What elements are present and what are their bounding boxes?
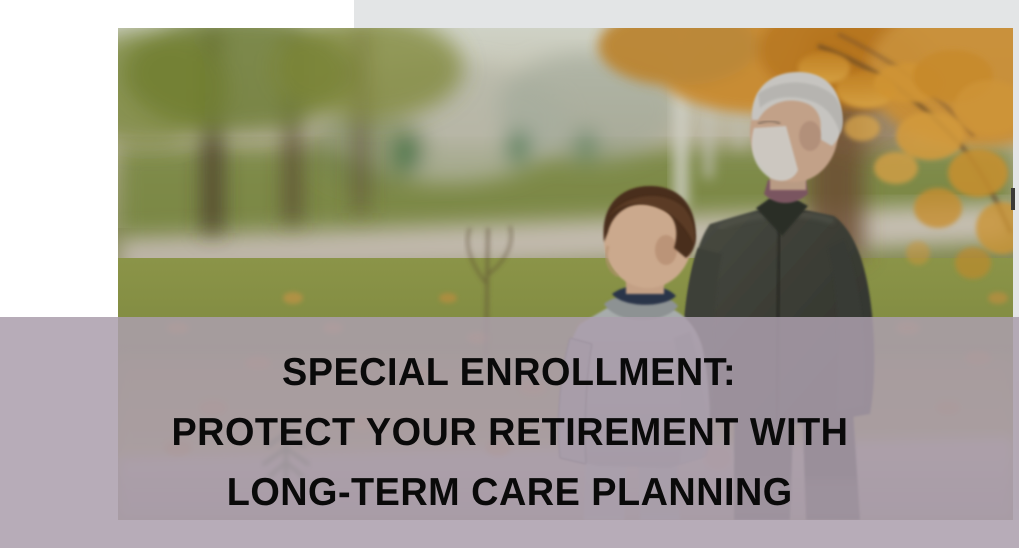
headline-line-1: SPECIAL ENROLLMENT: <box>282 343 736 403</box>
top-gray-band <box>354 0 1019 28</box>
headline-block: SPECIAL ENROLLMENT: PROTECT YOUR RETIREM… <box>0 317 1019 548</box>
headline-line-2: PROTECT YOUR RETIREMENT WITH <box>171 403 848 463</box>
gutter-mark <box>1011 188 1015 210</box>
headline-line-3: LONG-TERM CARE PLANNING <box>227 463 793 523</box>
page-canvas: SPECIAL ENROLLMENT: PROTECT YOUR RETIREM… <box>0 0 1019 556</box>
